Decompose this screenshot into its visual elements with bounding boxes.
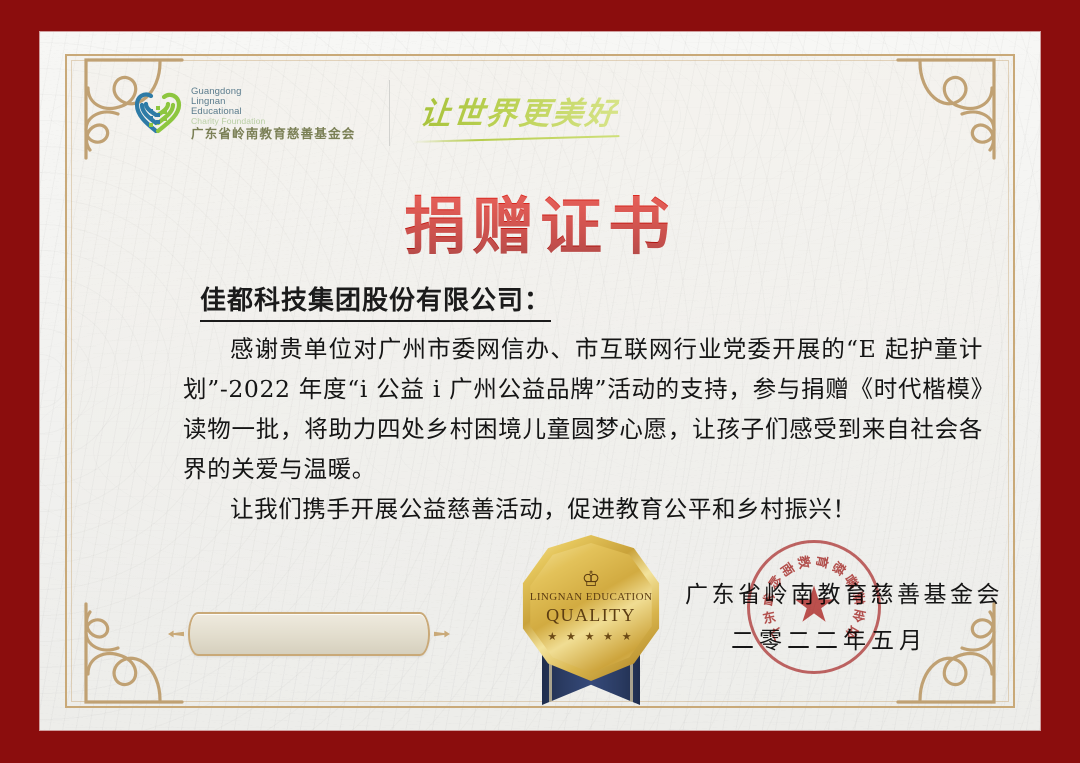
tagline: 让世界更美好 <box>418 88 621 139</box>
certificate-header: Guangdong Lingnan Educational Charity Fo… <box>132 80 618 146</box>
medal-line-2: QUALITY <box>546 605 636 626</box>
certificate-root: Guangdong Lingnan Educational Charity Fo… <box>0 0 1080 763</box>
quality-medal: ♔ LINGNAN EDUCATION QUALITY ★ ★ ★ ★ ★ <box>506 535 676 710</box>
medal-disc: ♔ LINGNAN EDUCATION QUALITY ★ ★ ★ ★ ★ <box>517 535 665 681</box>
recipient-name: 佳都科技集团股份有限公司： <box>200 280 551 322</box>
body-paragraph-2: 让我们携手开展公益慈善活动，促进教育公平和乡村振兴！ <box>183 489 983 529</box>
header-divider <box>389 80 390 146</box>
certificate-paper: Guangdong Lingnan Educational Charity Fo… <box>40 32 1040 730</box>
body-paragraph-1: 感谢贵单位对广州市委网信办、市互联网行业党委开展的“E 起护童计划”-2022 … <box>183 329 983 489</box>
corner-ornament-top-right <box>896 54 1016 162</box>
crown-icon: ♔ <box>582 569 601 590</box>
medal-face: ♔ LINGNAN EDUCATION QUALITY ★ ★ ★ ★ ★ <box>525 543 657 673</box>
woven-heart-logo-icon <box>132 85 184 135</box>
body-text: 感谢贵单位对广州市委网信办、市互联网行业党委开展的“E 起护童计划”-2022 … <box>183 329 983 529</box>
official-seal: 广东省岭南教育慈善基金会 <box>747 540 881 674</box>
medal-stars: ★ ★ ★ ★ ★ <box>547 630 634 643</box>
page-title: 捐赠证书 <box>40 176 1040 266</box>
logo-cn-name: 广东省岭南教育慈善基金会 <box>191 128 355 142</box>
corner-ornament-bottom-left <box>64 600 184 708</box>
foundation-logo: Guangdong Lingnan Educational Charity Fo… <box>132 85 355 142</box>
seal-ring-text: 广东省岭南教育慈善基金会 <box>750 543 878 671</box>
logo-en-line-4: Charity Foundation <box>191 117 355 126</box>
bottom-name-plaque <box>188 612 430 656</box>
medal-line-1: LINGNAN EDUCATION <box>530 591 653 603</box>
